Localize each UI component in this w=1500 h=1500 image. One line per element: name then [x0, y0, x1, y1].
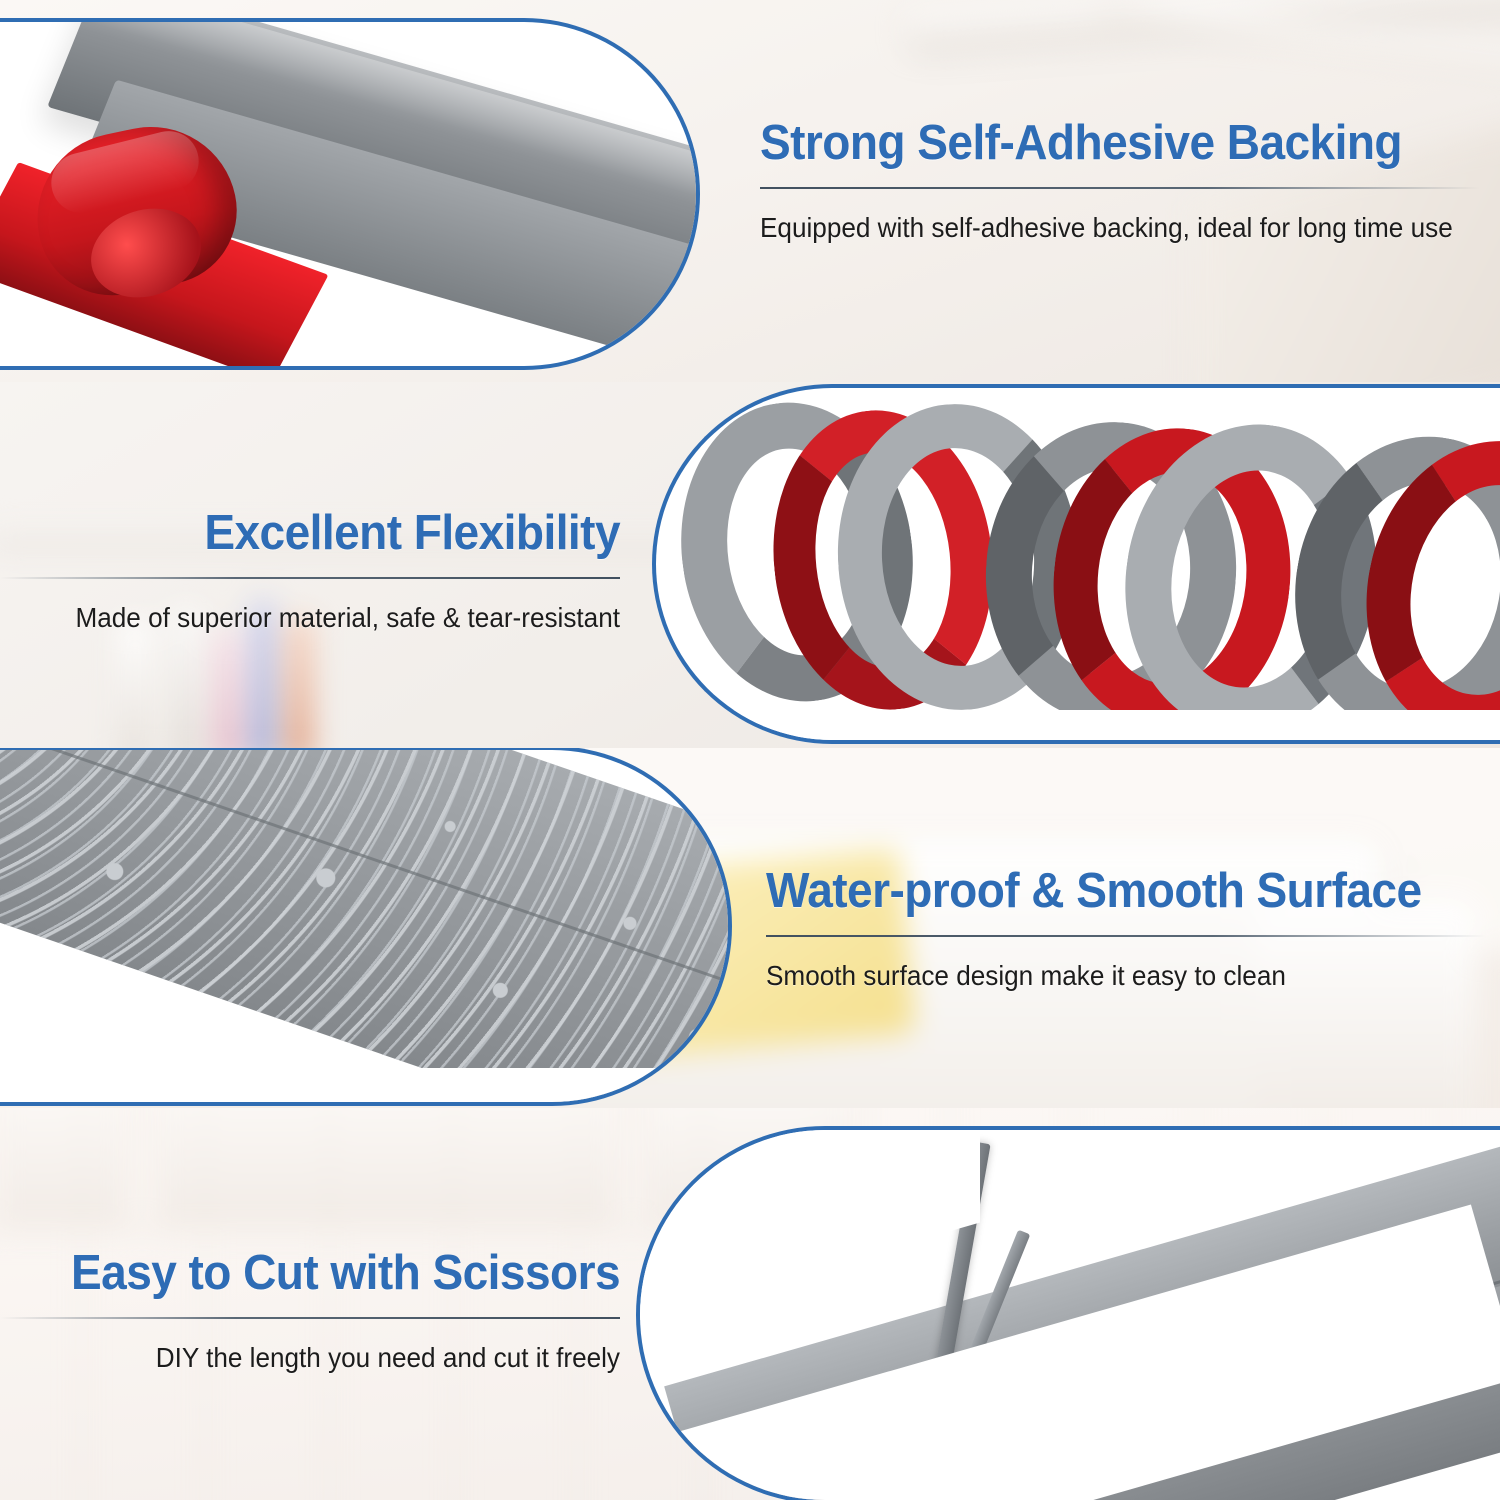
- feature-row-self-adhesive-backing: Strong Self-Adhesive Backing Equipped wi…: [0, 0, 1500, 382]
- feature-subtitle-1: Equipped with self-adhesive backing, ide…: [760, 211, 1444, 245]
- title-divider-4: [0, 1317, 620, 1319]
- feature-text-2: Excellent Flexibility Made of superior m…: [0, 508, 620, 635]
- book: [213, 631, 243, 748]
- feature-image-panel-1: [0, 18, 700, 370]
- feature-row-easy-to-cut-with-scissors: Easy to Cut with Scissors DIY the length…: [0, 1108, 1500, 1500]
- panel-corner-mask-top: [640, 1130, 980, 1320]
- feature-text-4: Easy to Cut with Scissors DIY the length…: [0, 1248, 620, 1375]
- coil-base-mask: [656, 710, 1500, 740]
- feature-image-panel-2: [652, 384, 1500, 744]
- book: [118, 621, 152, 748]
- feature-text-1: Strong Self-Adhesive Backing Equipped wi…: [760, 118, 1480, 245]
- book: [285, 617, 313, 748]
- title-divider-1: [760, 187, 1480, 189]
- feature-image-panel-3: [0, 748, 732, 1106]
- infographic-sheet: Strong Self-Adhesive Backing Equipped wi…: [0, 0, 1500, 1500]
- feature-text-3: Water-proof & Smooth Surface Smooth surf…: [766, 866, 1486, 993]
- feature-row-water-proof-smooth-surface: Water-proof & Smooth Surface Smooth surf…: [0, 748, 1500, 1108]
- feature-title-1: Strong Self-Adhesive Backing: [760, 118, 1437, 170]
- feature-title-2: Excellent Flexibility: [37, 508, 620, 560]
- feature-subtitle-2: Made of superior material, safe & tear-r…: [31, 601, 620, 635]
- feature-image-panel-4: [636, 1126, 1500, 1500]
- feature-row-excellent-flexibility: Excellent Flexibility Made of superior m…: [0, 382, 1500, 748]
- feature-subtitle-4: DIY the length you need and cut it freel…: [31, 1341, 620, 1375]
- droplet-textured-strip: [0, 750, 728, 1102]
- title-divider-2: [0, 577, 620, 579]
- scissors-cutting-illustration: [640, 1130, 1500, 1500]
- panel-bottom-mask: [0, 1068, 728, 1102]
- water-droplets-illustration: [0, 750, 728, 1102]
- strip-with-adhesive-illustration: [0, 22, 696, 366]
- feature-title-3: Water-proof & Smooth Surface: [766, 866, 1443, 918]
- title-divider-3: [766, 935, 1486, 937]
- feature-subtitle-3: Smooth surface design make it easy to cl…: [766, 959, 1450, 993]
- feature-title-4: Easy to Cut with Scissors: [37, 1248, 620, 1300]
- coiled-strip-illustration: [656, 388, 1500, 740]
